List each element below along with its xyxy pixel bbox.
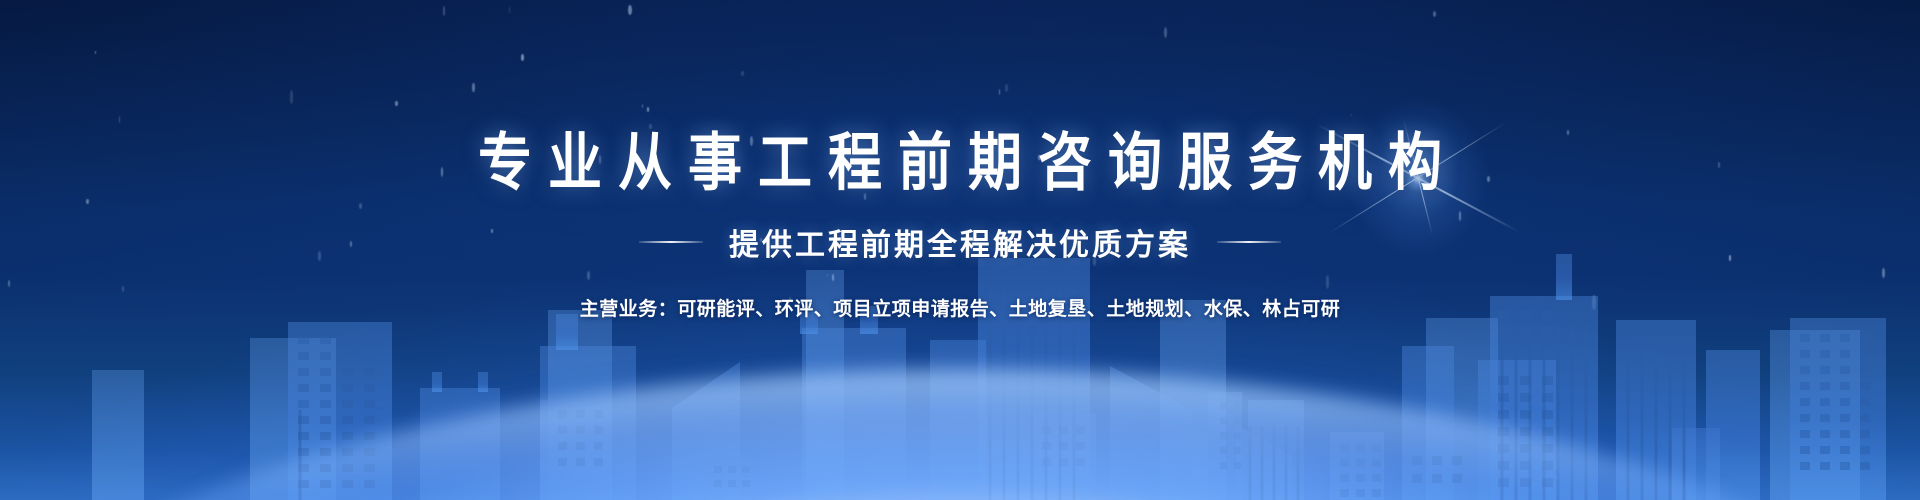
banner-subtitle-row: 提供工程前期全程解决优质方案 [639,220,1281,264]
decor-line-left [639,241,703,243]
decor-line-right [1217,241,1281,243]
banner-content: 专业从事工程前期咨询服务机构 提供工程前期全程解决优质方案 主营业务：可研能评、… [0,0,1920,500]
banner-subtitle: 提供工程前期全程解决优质方案 [729,220,1191,264]
hero-banner: 专业从事工程前期咨询服务机构 提供工程前期全程解决优质方案 主营业务：可研能评、… [0,0,1920,500]
banner-headline: 专业从事工程前期咨询服务机构 [462,132,1458,195]
banner-services-line: 主营业务：可研能评、环评、项目立项申请报告、土地复垦、土地规划、水保、林占可研 [580,294,1341,321]
